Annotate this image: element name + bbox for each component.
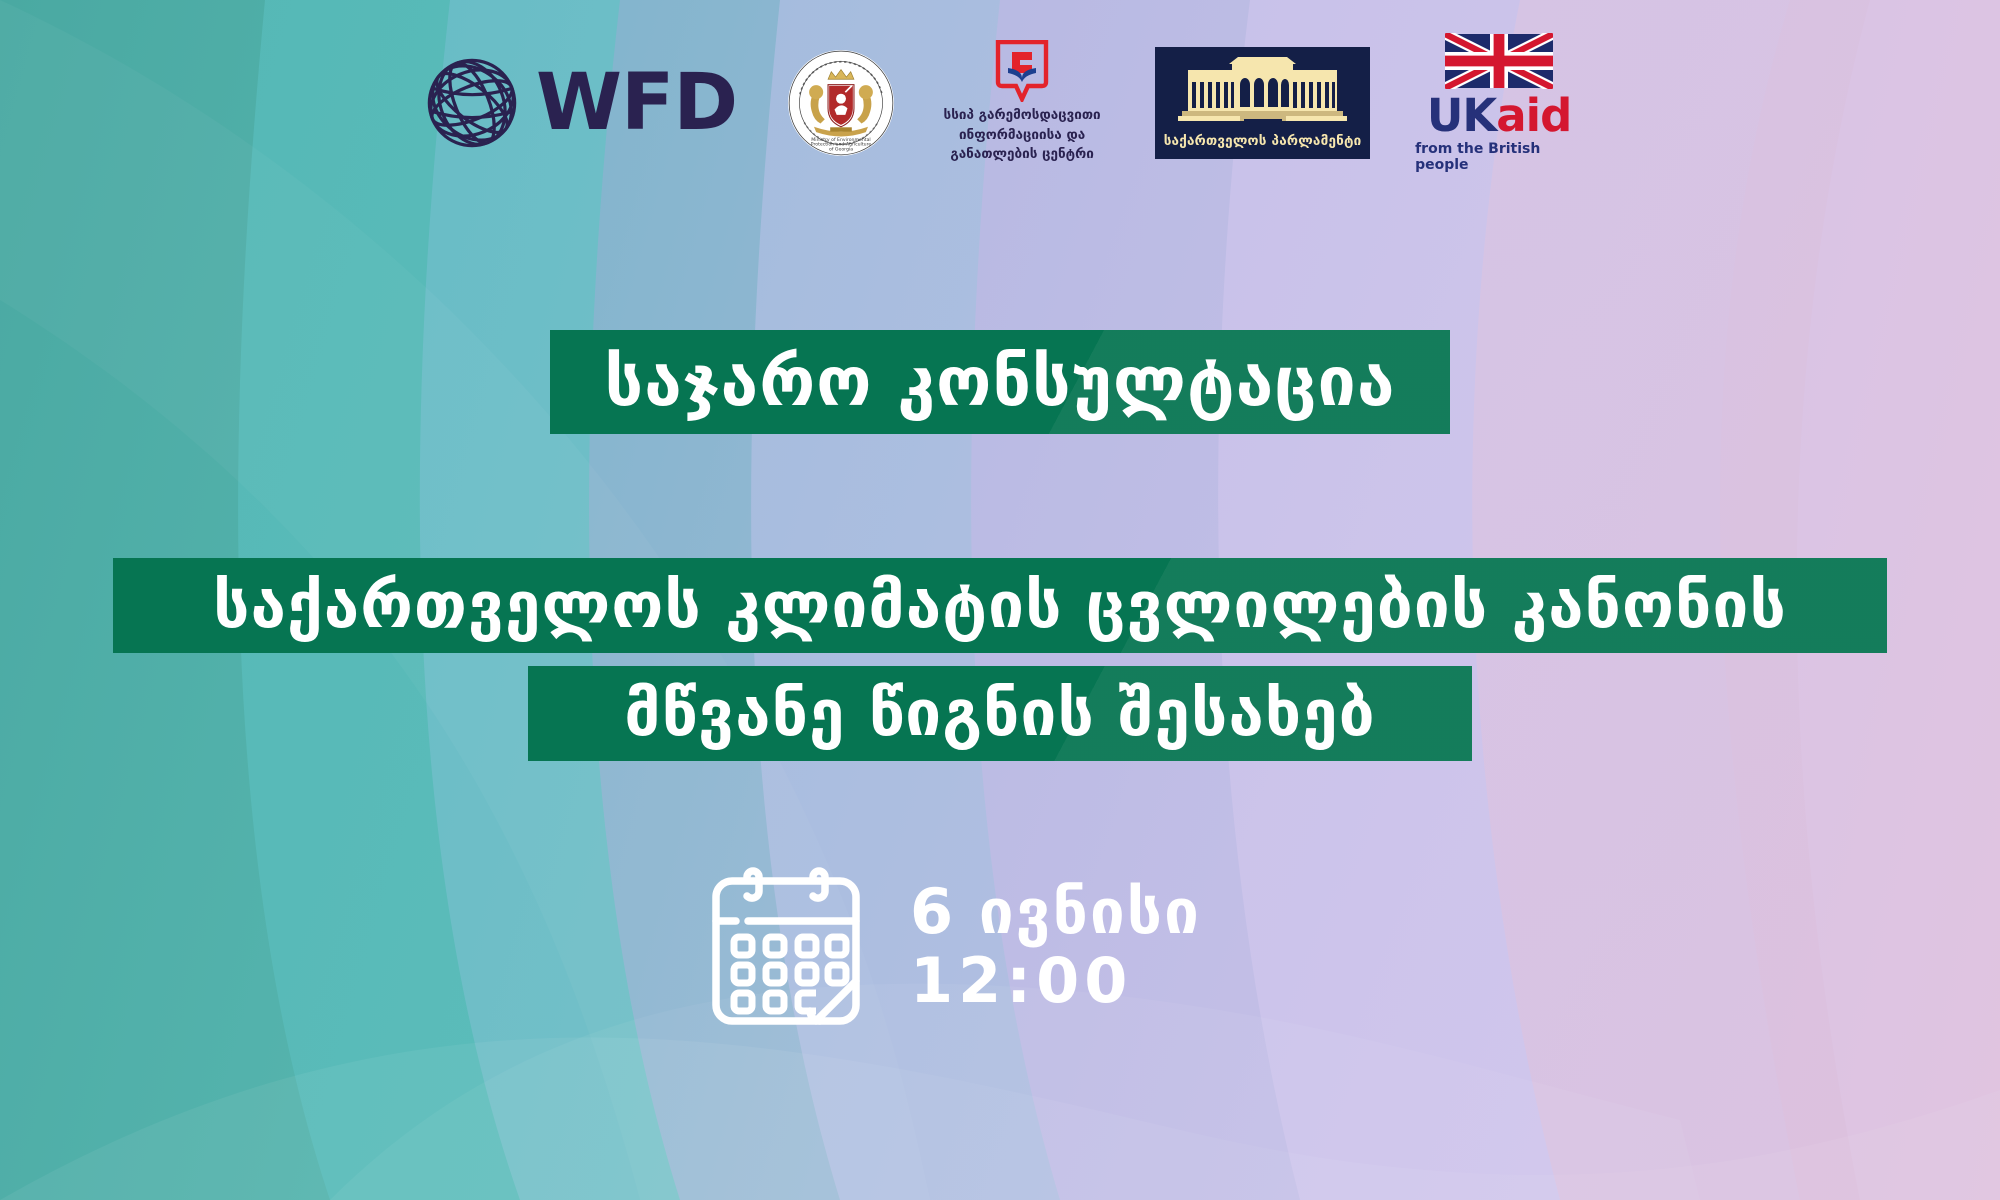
union-jack-flag-icon [1445, 33, 1553, 89]
partner-logo-strip: WFD [420, 30, 1670, 175]
eic-caption-line-1: სსიპ გარემოსდაცვითი [944, 106, 1101, 126]
headline-subtitle-banner-2: მწვანე წიგნის შესახებ [528, 666, 1472, 761]
headline-subtitle-banner-1: საქართველოს კლიმატის ცვლილების კანონის [113, 558, 1887, 653]
logo-ukaid: UKaid from the British people [1415, 33, 1583, 173]
event-date: 6 ივნისი [910, 877, 1201, 946]
logo-parliament-of-georgia: საქართველოს პარლამენტი [1155, 47, 1370, 159]
ukaid-aid-text: aid [1496, 89, 1571, 142]
logo-ministry-of-environment: Ministry of Environmental Protection and… [787, 49, 895, 157]
svg-text:of Georgia: of Georgia [829, 146, 853, 152]
ukaid-wordmark: UKaid [1427, 93, 1571, 138]
event-datetime-block: 6 ივნისი 12:00 [700, 855, 1201, 1037]
logo-environmental-information-centre: სსიპ გარემოსდაცვითი ინფორმაციისა და განა… [917, 40, 1127, 165]
eiec-emblem-icon [994, 40, 1050, 102]
poster-canvas: WFD [0, 0, 2000, 1200]
wfd-wordmark: WFD [536, 64, 737, 142]
calendar-icon [700, 855, 872, 1037]
headline-title-text: საჯარო კონსულტაცია [605, 343, 1396, 422]
event-datetime-text: 6 ივნისი 12:00 [910, 877, 1201, 1016]
parliament-label: საქართველოს პარლამენტი [1164, 133, 1362, 149]
ukaid-tagline: from the British people [1415, 141, 1583, 173]
headline-subtitle-line-1: საქართველოს კლიმატის ცვლილების კანონის [213, 569, 1787, 643]
globe-wireframe-icon [420, 51, 524, 155]
georgia-state-seal-icon: Ministry of Environmental Protection and… [787, 49, 895, 157]
ukaid-uk-text: UK [1427, 89, 1496, 142]
headline-subtitle-line-2: მწვანე წიგნის შესახებ [624, 677, 1375, 751]
headline-title-banner: საჯარო კონსულტაცია [550, 330, 1450, 434]
event-time: 12:00 [910, 946, 1201, 1015]
eic-caption: სსიპ გარემოსდაცვითი ინფორმაციისა და განა… [944, 106, 1101, 165]
logo-wfd: WFD [420, 51, 737, 155]
eic-caption-line-2: ინფორმაციისა და [944, 126, 1101, 146]
parliament-building-icon [1170, 53, 1355, 131]
eic-caption-line-3: განათლების ცენტრი [944, 145, 1101, 165]
